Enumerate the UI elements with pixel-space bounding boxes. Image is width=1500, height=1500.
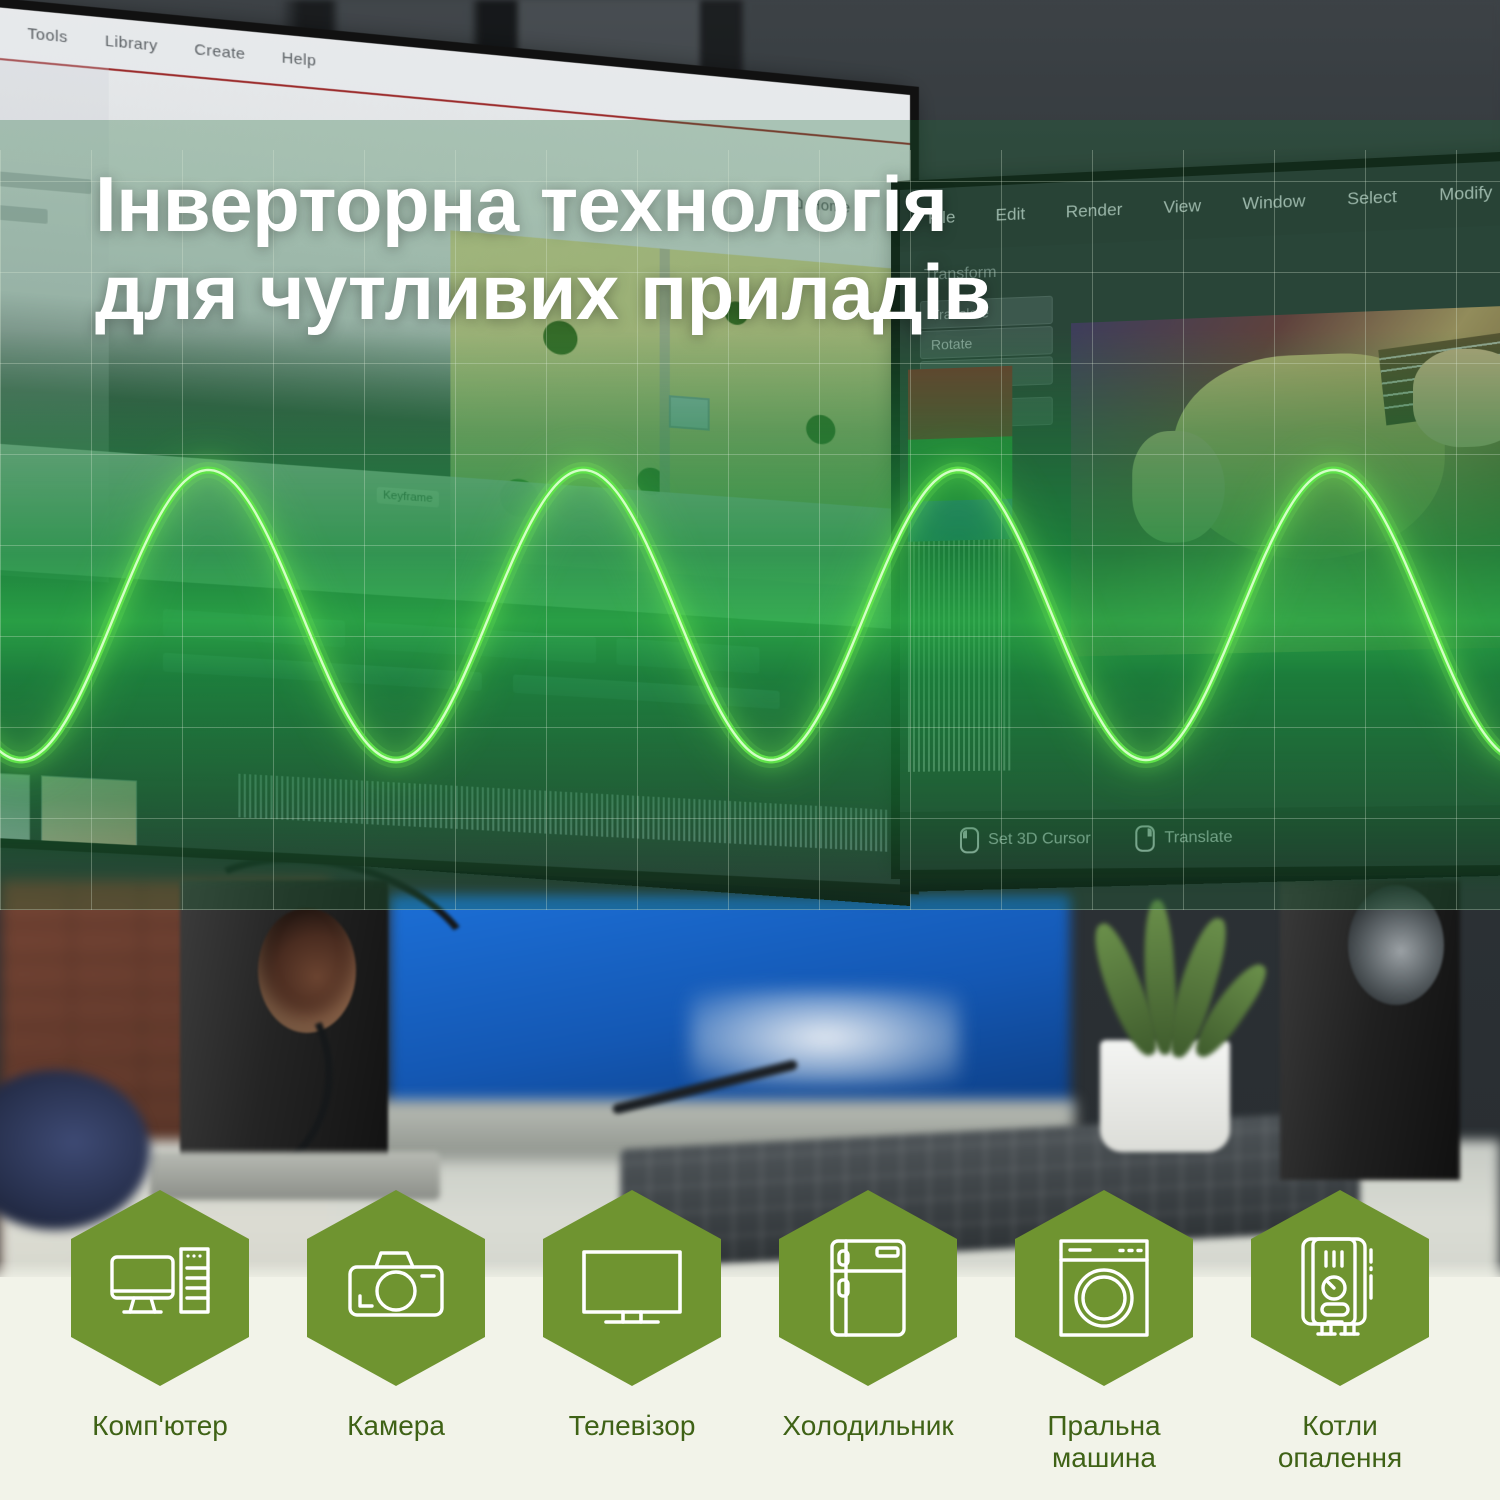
mouse-right-icon xyxy=(1136,825,1155,852)
timeline-clip[interactable] xyxy=(617,638,760,673)
status-label: Translate xyxy=(1164,829,1232,848)
hand xyxy=(1413,346,1500,448)
appliance-item-washer[interactable]: Пральна машина xyxy=(990,1190,1218,1475)
status-set-3d-cursor[interactable]: Set 3D Cursor xyxy=(960,826,1091,853)
timeline-clip[interactable] xyxy=(366,622,596,663)
status-translate[interactable]: Translate xyxy=(1136,824,1233,851)
timeline-clip[interactable] xyxy=(513,674,780,709)
left-menu-item[interactable]: Help xyxy=(282,49,317,70)
menu-item-modify[interactable]: Modify xyxy=(1439,182,1492,205)
appliance-label: Комп'ютер xyxy=(92,1410,228,1442)
timeline-clip[interactable] xyxy=(163,653,482,691)
appliance-label: Котли опалення xyxy=(1278,1410,1402,1475)
menu-item-window[interactable]: Window xyxy=(1242,191,1305,214)
appliance-label: Холодильник xyxy=(782,1410,953,1442)
guitar-video-preview xyxy=(1071,304,1500,657)
title-text: Інверторна технологія для чутливих прила… xyxy=(95,160,991,336)
plant-pot xyxy=(1100,1040,1230,1152)
refrigerator-icon xyxy=(829,1238,907,1338)
preview-swatch xyxy=(908,436,1012,502)
camera-icon xyxy=(346,1248,446,1328)
appliance-item-computer[interactable]: Комп'ютер xyxy=(46,1190,274,1475)
hex-badge[interactable] xyxy=(71,1190,249,1386)
menu-item-select[interactable]: Select xyxy=(1347,187,1397,210)
appliance-item-camera[interactable]: Камера xyxy=(282,1190,510,1475)
hex-badge[interactable] xyxy=(543,1190,721,1386)
appliance-label: Пральна машина xyxy=(1047,1410,1160,1475)
panel-row[interactable] xyxy=(0,165,91,194)
right-statusbar: Set 3D Cursor Translate xyxy=(900,804,1500,870)
menu-item-render[interactable]: Render xyxy=(1066,200,1123,223)
television-icon xyxy=(581,1248,683,1328)
timeline-clip[interactable] xyxy=(163,609,345,648)
washing-machine-icon xyxy=(1058,1238,1150,1338)
page-title: Інверторна технологія для чутливих прила… xyxy=(95,160,991,336)
menu-item-view[interactable]: View xyxy=(1163,196,1201,218)
hex-badge[interactable] xyxy=(779,1190,957,1386)
appliance-label: Телевізор xyxy=(569,1410,696,1442)
hex-badge[interactable] xyxy=(1251,1190,1429,1386)
menu-item-edit[interactable]: Edit xyxy=(996,204,1026,225)
hex-badge[interactable] xyxy=(1015,1190,1193,1386)
poster-canvas: Settings Tools Library Create Help Home xyxy=(0,0,1500,1500)
left-screen-content: Settings Tools Library Create Help Home xyxy=(0,0,910,885)
appliance-item-tv[interactable]: Телевізор xyxy=(518,1190,746,1475)
audio-histogram xyxy=(908,539,1012,772)
panel-row[interactable] xyxy=(0,199,48,224)
appliance-label: Камера xyxy=(347,1410,445,1442)
hex-badge[interactable] xyxy=(307,1190,485,1386)
appliance-list: Комп'ютер Камера xyxy=(0,1190,1500,1475)
hand xyxy=(1132,429,1225,544)
right-stand-cutout xyxy=(1348,885,1444,1005)
boiler-icon xyxy=(1300,1236,1380,1340)
left-monitor-screen: Settings Tools Library Create Help Home xyxy=(0,0,910,885)
appliance-item-boiler[interactable]: Котли опалення xyxy=(1226,1190,1454,1475)
map-building xyxy=(669,395,710,431)
status-label: Set 3D Cursor xyxy=(988,830,1091,849)
appliance-item-fridge[interactable]: Холодильник xyxy=(754,1190,982,1475)
audio-waveform xyxy=(238,774,890,852)
desktop-computer-icon xyxy=(109,1246,211,1330)
preview-swatch xyxy=(908,366,1012,440)
mouse-left-icon xyxy=(960,827,979,853)
preview-swatch xyxy=(908,499,1012,542)
screen-highlight xyxy=(690,990,960,1085)
left-menu-item[interactable]: Tools xyxy=(27,25,68,47)
